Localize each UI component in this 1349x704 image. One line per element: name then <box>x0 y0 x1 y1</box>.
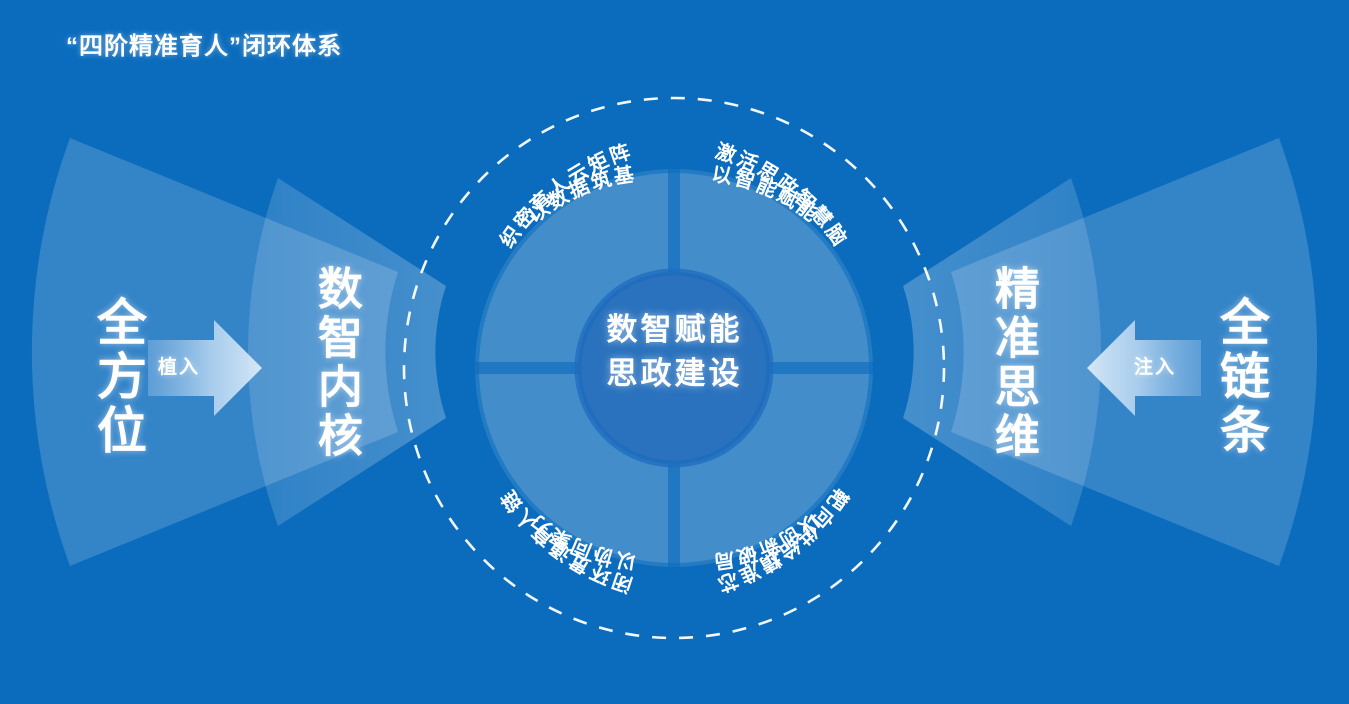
diagram-canvas: 以数据筑基 织密育人云矩阵 以智能赋能 激活思政智慧脑 以协同聚力 闭环贯通育人… <box>0 0 1349 704</box>
flow-right-inner-label: 精准思维 <box>990 265 1036 461</box>
page-title: “四阶精准育人”闭环体系 <box>66 26 342 61</box>
flow-right-connector-label: 注入 <box>1134 352 1176 379</box>
flow-right-outer-label: 全链条 <box>1215 296 1266 458</box>
flow-left-connector-label: 植入 <box>158 352 200 379</box>
flow-left-inner-label: 数智内核 <box>313 265 359 461</box>
flow-left-outer-label: 全方位 <box>92 296 143 458</box>
